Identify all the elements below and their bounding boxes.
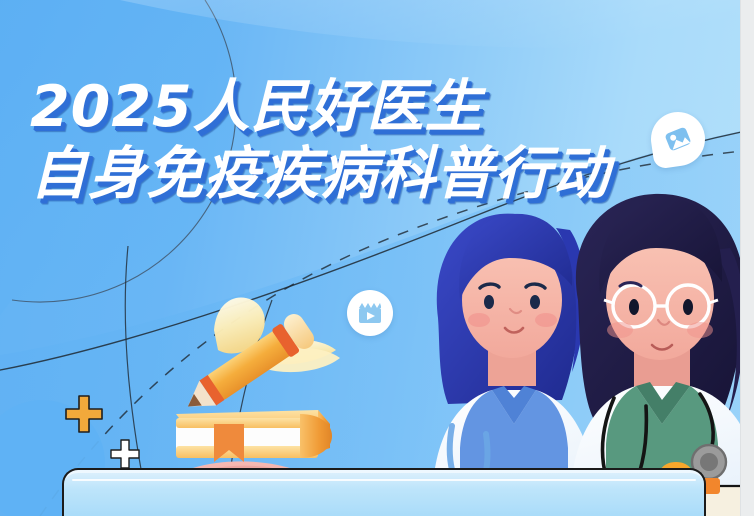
banner-artwork: 2025人民好医生 自身免疫疾病科普行动 [0,0,741,516]
video-clapperboard-icon[interactable] [347,290,393,336]
bottom-panel [62,468,706,516]
page-gutter [740,0,754,516]
image-icon-glyph [660,121,696,157]
campaign-banner: 2025人民好医生 自身免疫疾病科普行动 [0,0,754,516]
video-icon-glyph [356,299,384,327]
plus-mark-orange-icon [62,392,106,436]
plus-mark-white-icon [108,437,142,471]
